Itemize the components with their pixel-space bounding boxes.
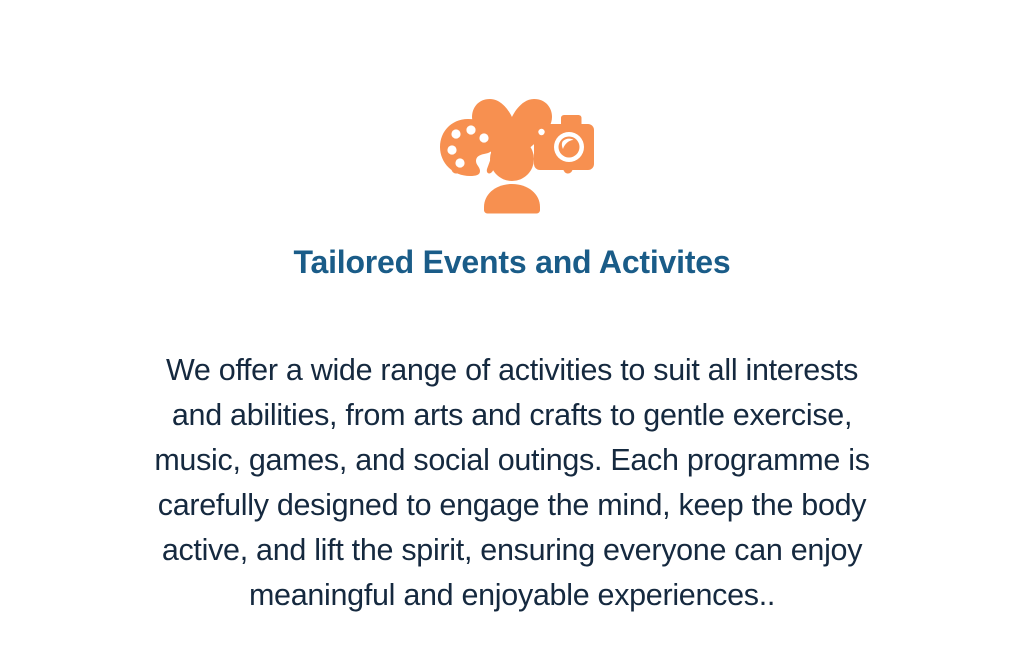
tailored-events-activities-icon xyxy=(412,55,612,215)
body-line: and abilities, from arts and crafts to g… xyxy=(52,393,972,438)
body-line: music, games, and social outings. Each p… xyxy=(52,438,972,483)
body-line: carefully designed to engage the mind, k… xyxy=(52,483,972,528)
body-line: active, and lift the spirit, ensuring ev… xyxy=(52,528,972,573)
body-paragraph: We offer a wide range of activities to s… xyxy=(52,348,972,618)
body-line: We offer a wide range of activities to s… xyxy=(52,348,972,393)
body-line: meaningful and enjoyable experiences.. xyxy=(52,573,972,618)
page-title: Tailored Events and Activites xyxy=(294,245,731,280)
content-card: Tailored Events and Activites We offer a… xyxy=(0,0,1024,657)
